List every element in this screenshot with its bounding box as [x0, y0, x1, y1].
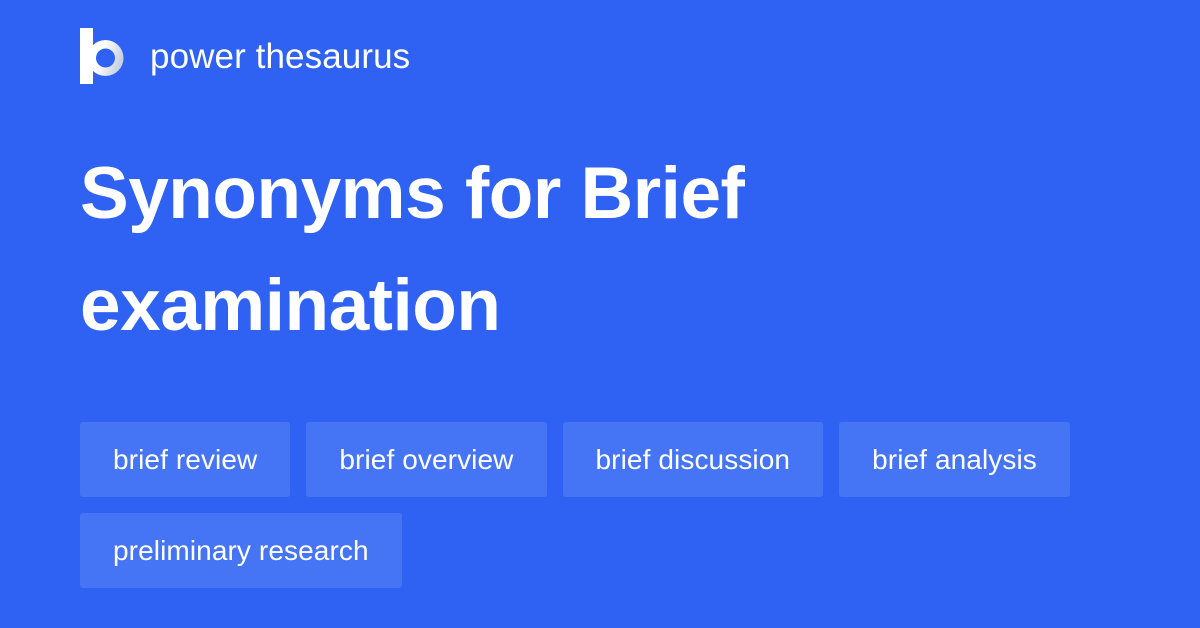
page-title-line-2: examination — [80, 265, 500, 346]
synonym-chip[interactable]: brief review — [80, 422, 290, 497]
power-thesaurus-b-logo-icon — [80, 28, 132, 84]
og-share-card: power thesaurus Synonyms for Brief exami… — [0, 0, 1200, 628]
synonym-chip[interactable]: preliminary research — [80, 513, 402, 588]
page-title-line-1: Synonyms for Brief — [80, 153, 744, 234]
synonym-chip[interactable]: brief analysis — [839, 422, 1070, 497]
synonym-chip[interactable]: brief discussion — [563, 422, 824, 497]
brand-header[interactable]: power thesaurus — [80, 26, 410, 86]
page-title: Synonyms for Brief examination — [80, 138, 1120, 362]
brand-name: power thesaurus — [150, 39, 410, 74]
synonym-chip-list: brief review brief overview brief discus… — [80, 422, 1080, 588]
synonym-chip[interactable]: brief overview — [306, 422, 546, 497]
